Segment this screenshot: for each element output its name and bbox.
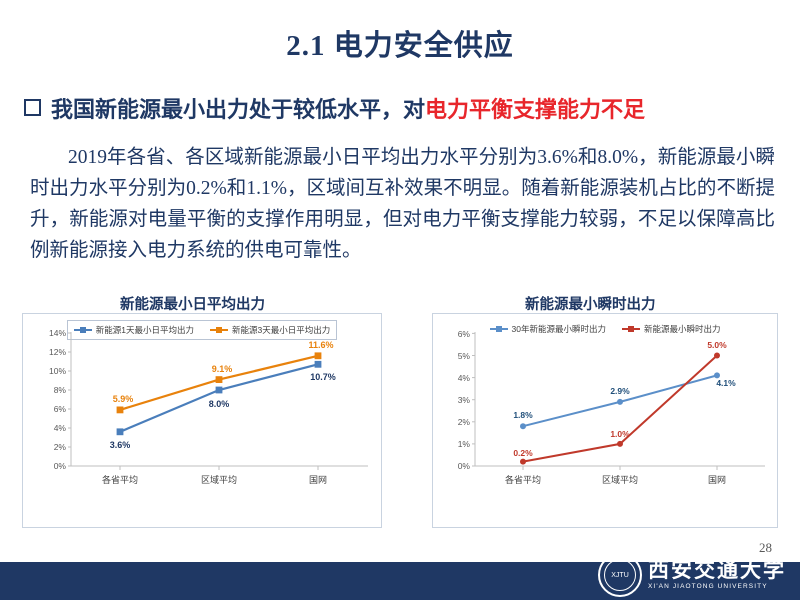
logo-name-cn: 西安交通大学: [648, 560, 786, 581]
svg-text:9.1%: 9.1%: [212, 364, 233, 374]
chart-caption-left: 新能源最小日平均出力: [120, 293, 265, 314]
svg-text:10.7%: 10.7%: [310, 372, 336, 382]
body-paragraph: 2019年各省、各区域新能源最小日平均出力水平分别为3.6%和8.0%，新能源最…: [30, 142, 775, 266]
chart-right: 30年新能源最小瞬时出力 新能源最小瞬时出力 0% 1% 2% 3% 4% 5%…: [432, 313, 778, 528]
svg-text:各省平均: 各省平均: [505, 474, 541, 485]
svg-text:2.9%: 2.9%: [610, 386, 630, 396]
svg-text:5.9%: 5.9%: [113, 394, 134, 404]
svg-text:10%: 10%: [49, 366, 66, 376]
logo-name-en: XI'AN JIAOTONG UNIVERSITY: [648, 583, 786, 590]
svg-text:区域平均: 区域平均: [201, 474, 237, 485]
chart-left: 新能源1天最小日平均出力 新能源3天最小日平均出力 0% 2% 4% 6% 8%…: [22, 313, 382, 528]
chart-left-plot: 0% 2% 4% 6% 8% 10% 12% 14% 各省平均 区: [23, 314, 381, 504]
svg-text:1%: 1%: [458, 439, 471, 449]
seal-text: XJTU: [611, 572, 629, 579]
chart-right-plot: 0% 1% 2% 3% 4% 5% 6% 各省平均 区域平均 国网: [433, 314, 777, 504]
svg-text:2%: 2%: [458, 417, 471, 427]
bullet-text-highlight: 电力平衡支撑能力不足: [425, 97, 645, 122]
svg-text:4%: 4%: [54, 423, 67, 433]
svg-text:12%: 12%: [49, 347, 66, 357]
svg-text:5.0%: 5.0%: [707, 340, 727, 350]
svg-text:0%: 0%: [458, 461, 471, 471]
svg-text:4%: 4%: [458, 373, 471, 383]
chart-caption-right: 新能源最小瞬时出力: [525, 293, 656, 314]
svg-text:3.6%: 3.6%: [110, 440, 131, 450]
svg-text:0.2%: 0.2%: [513, 448, 533, 458]
svg-text:11.6%: 11.6%: [308, 340, 333, 350]
svg-text:8.0%: 8.0%: [209, 399, 230, 409]
page-title: 2.1 电力安全供应: [0, 22, 800, 64]
svg-text:国网: 国网: [708, 475, 726, 485]
svg-text:3%: 3%: [458, 395, 471, 405]
university-seal-icon: XJTU: [598, 553, 642, 597]
svg-text:各省平均: 各省平均: [102, 474, 138, 485]
svg-text:8%: 8%: [54, 385, 67, 395]
svg-text:国网: 国网: [309, 475, 327, 485]
svg-text:4.1%: 4.1%: [716, 378, 736, 388]
svg-text:6%: 6%: [54, 404, 67, 414]
bullet-heading: 我国新能源最小出力处于较低水平，对电力平衡支撑能力不足: [24, 92, 784, 124]
svg-text:区域平均: 区域平均: [602, 474, 638, 485]
svg-text:2%: 2%: [54, 442, 67, 452]
svg-text:6%: 6%: [458, 329, 471, 339]
svg-text:1.0%: 1.0%: [610, 429, 630, 439]
svg-text:5%: 5%: [458, 351, 471, 361]
university-logo: XJTU 西安交通大学 XI'AN JIAOTONG UNIVERSITY: [598, 552, 786, 598]
bullet-text-main: 我国新能源最小出力处于较低水平，对: [51, 97, 425, 122]
svg-text:0%: 0%: [54, 461, 67, 471]
svg-text:1.8%: 1.8%: [513, 410, 533, 420]
svg-text:14%: 14%: [49, 328, 66, 338]
square-bullet-icon: [24, 99, 41, 116]
